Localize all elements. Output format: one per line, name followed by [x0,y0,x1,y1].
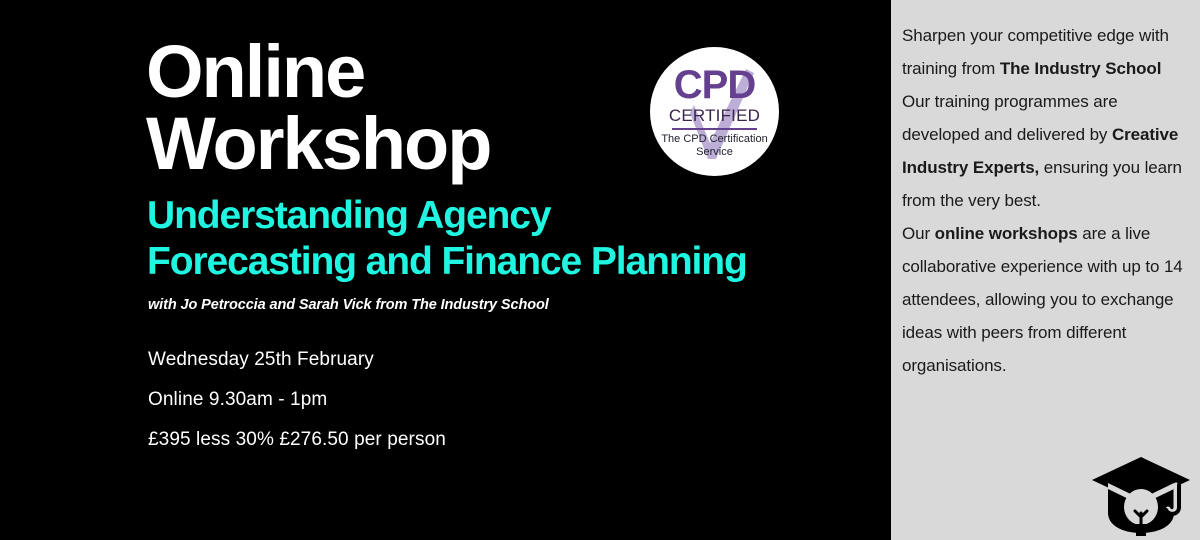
headline-line-1: Online [146,36,646,108]
main-panel: Online Workshop Understanding Agency For… [0,0,891,540]
p3-post: are a live collaborative experience with… [902,224,1183,375]
headline-line-2: Workshop [146,108,646,180]
event-date: Wednesday 25th February [148,340,446,380]
sidebar-paragraph-2: Our training programmes are developed an… [902,85,1192,217]
subtitle-line-1: Understanding Agency [147,193,867,239]
cpd-certified-label: CERTIFIED [650,107,779,124]
p3-bold: online workshops [935,224,1078,243]
page-title: Online Workshop [146,36,646,180]
p3-pre: Our [902,224,935,243]
cpd-acronym: CPD [650,65,779,105]
event-details: Wednesday 25th February Online 9.30am - … [148,340,446,460]
cpd-divider [672,128,757,130]
subtitle-line-2: Forecasting and Finance Planning [147,239,867,285]
cpd-service-label: The CPD Certification Service [650,133,779,159]
workshop-poster: Online Workshop Understanding Agency For… [0,0,1200,540]
event-time: Online 9.30am - 1pm [148,380,446,420]
cpd-service-line-2: Service [650,146,779,159]
graduation-cap-lightbulb-logo-icon [1090,455,1192,537]
sidebar-paragraph-3: Our online workshops are a live collabor… [902,217,1192,382]
p2-pre: Our training programmes are developed an… [902,92,1118,144]
cpd-certified-badge-icon: CPD CERTIFIED The CPD Certification Serv… [650,47,779,176]
sidebar-paragraph-1: Sharpen your competitive edge with train… [902,19,1192,85]
workshop-subtitle: Understanding Agency Forecasting and Fin… [147,193,867,285]
p1-bold: The Industry School [1000,59,1162,78]
cpd-service-line-1: The CPD Certification [650,133,779,146]
presenter-byline: with Jo Petroccia and Sarah Vick from Th… [148,297,549,313]
event-price: £395 less 30% £276.50 per person [148,420,446,460]
cpd-badge-inner: CPD CERTIFIED The CPD Certification Serv… [650,47,779,176]
sidebar-copy: Sharpen your competitive edge with train… [902,19,1192,382]
